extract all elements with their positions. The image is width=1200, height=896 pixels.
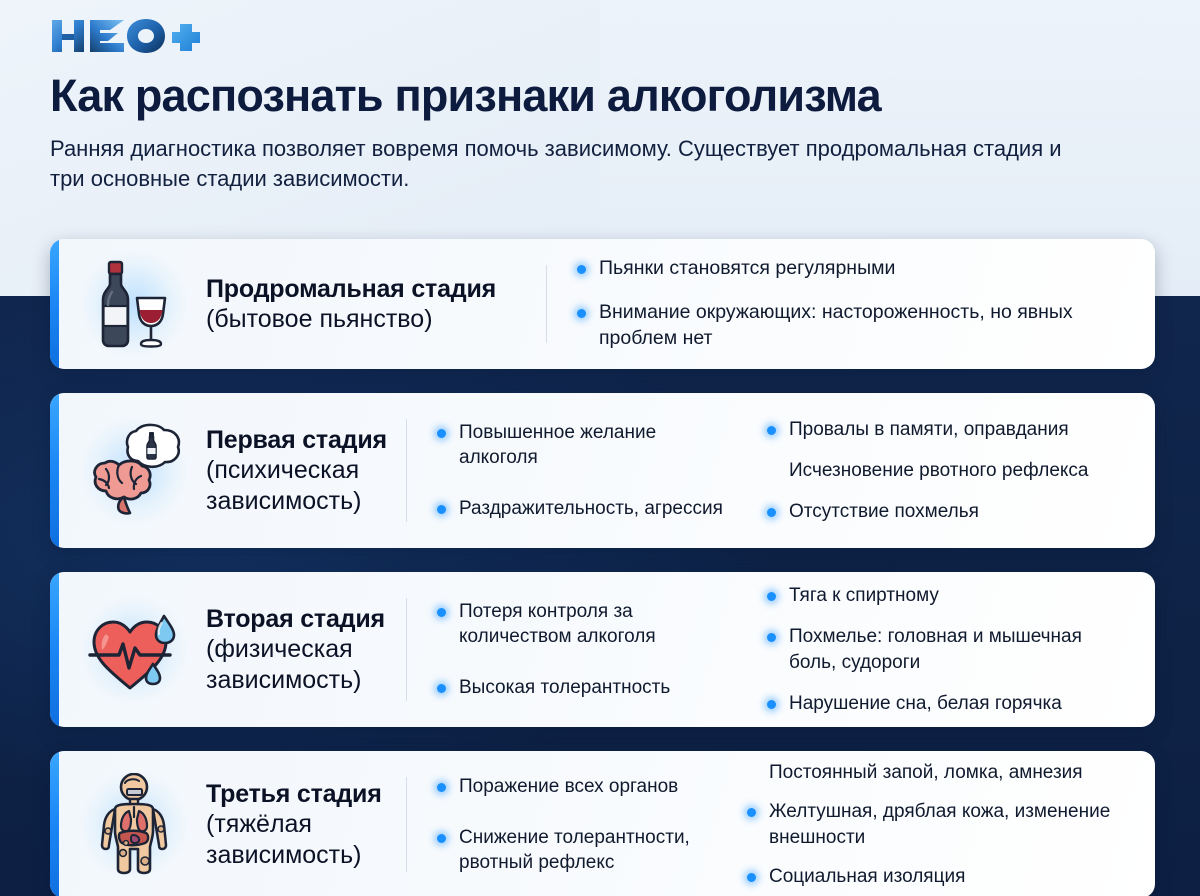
bullet-column: Провалы в памяти, оправдания Исчезновени… bbox=[737, 417, 1133, 524]
card-body: Потеря контроля за количеством алкоголя … bbox=[407, 572, 1155, 727]
card-head: Продромальная стадия (бытовое пьянство) bbox=[50, 239, 546, 369]
page-title: Как распознать признаки алкоголизма bbox=[50, 72, 1160, 121]
card-title-sub: (психическая зависимость) bbox=[206, 455, 406, 516]
list-item: Высокая толерантность bbox=[437, 675, 723, 700]
list-item: Постоянный запой, ломка, амнезия bbox=[747, 760, 1119, 785]
card-body: Поражение всех органов Снижение толерант… bbox=[407, 751, 1155, 896]
card-head: Первая стадия (психическая зависимость) bbox=[50, 393, 406, 548]
brain-with-bottle-thought-icon bbox=[82, 421, 186, 521]
card-title-sub: (бытовое пьянство) bbox=[206, 304, 546, 335]
brand-logo bbox=[50, 14, 1160, 58]
stage-card-second[interactable]: Вторая стадия (физическая зависимость) П… bbox=[50, 572, 1155, 727]
list-item: Тяга к спиртному bbox=[767, 583, 1119, 608]
stages-list: Продромальная стадия (бытовое пьянство) … bbox=[50, 239, 1155, 896]
card-title-sub: (тяжёлая зависимость) bbox=[206, 809, 406, 870]
list-item: Снижение толерантности, рвотный рефлекс bbox=[437, 825, 703, 875]
card-title: Третья стадия (тяжёлая зависимость) bbox=[206, 779, 406, 871]
list-item: Повышенное желание алкоголя bbox=[437, 420, 723, 470]
bullet-column: Постоянный запой, ломка, амнезия Желтушн… bbox=[717, 760, 1133, 888]
card-head: Третья стадия (тяжёлая зависимость) bbox=[50, 751, 406, 896]
bullet-column: Потеря контроля за количеством алкоголя … bbox=[407, 599, 737, 700]
list-item: Провалы в памяти, оправдания bbox=[767, 417, 1119, 442]
human-body-organs-icon bbox=[82, 773, 186, 877]
bullet-column: Повышенное желание алкоголя Раздражитель… bbox=[407, 420, 737, 521]
list-item: Поражение всех органов bbox=[437, 774, 703, 799]
list-item: Социальная изоляция bbox=[747, 864, 1119, 889]
list-item: Пьянки становятся регулярными bbox=[577, 256, 1119, 282]
card-title: Первая стадия (психическая зависимость) bbox=[206, 425, 406, 517]
card-head: Вторая стадия (физическая зависимость) bbox=[50, 572, 406, 727]
card-title-strong: Вторая стадия bbox=[206, 604, 406, 635]
bullet-column: Пьянки становятся регулярными Внимание о… bbox=[547, 256, 1133, 351]
stage-card-first[interactable]: Первая стадия (психическая зависимость) … bbox=[50, 393, 1155, 548]
wine-bottle-and-glass-icon bbox=[82, 258, 186, 350]
list-item: Потеря контроля за количеством алкоголя bbox=[437, 599, 723, 649]
card-title: Продромальная стадия (бытовое пьянство) bbox=[206, 274, 546, 335]
heart-with-pulse-and-droplets-icon bbox=[82, 604, 186, 696]
card-title-strong: Третья стадия bbox=[206, 779, 406, 810]
list-item: Желтушная, дряблая кожа, изменение внешн… bbox=[747, 799, 1119, 849]
stage-card-prodromal[interactable]: Продромальная стадия (бытовое пьянство) … bbox=[50, 239, 1155, 369]
list-item: Исчезновение рвотного рефлекса bbox=[767, 458, 1119, 483]
list-item: Похмелье: головная и мышечная боль, судо… bbox=[767, 624, 1119, 674]
bullet-column: Поражение всех органов Снижение толерант… bbox=[407, 774, 717, 875]
card-title-strong: Первая стадия bbox=[206, 425, 406, 456]
card-body: Пьянки становятся регулярными Внимание о… bbox=[547, 239, 1155, 369]
page-subtitle: Ранняя диагностика позволяет вовремя пом… bbox=[50, 134, 1080, 195]
card-title-sub: (физическая зависимость) bbox=[206, 634, 406, 695]
neo-plus-logo-icon bbox=[50, 16, 202, 56]
list-item: Отсутствие похмелья bbox=[767, 499, 1119, 524]
list-item: Нарушение сна, белая горячка bbox=[767, 691, 1119, 716]
card-title: Вторая стадия (физическая зависимость) bbox=[206, 604, 406, 696]
card-body: Повышенное желание алкоголя Раздражитель… bbox=[407, 393, 1155, 548]
bullet-column: Тяга к спиртному Похмелье: головная и мы… bbox=[737, 583, 1133, 715]
header: Как распознать признаки алкоголизма Ранн… bbox=[50, 14, 1160, 194]
stage-card-third[interactable]: Третья стадия (тяжёлая зависимость) Пора… bbox=[50, 751, 1155, 896]
card-title-strong: Продромальная стадия bbox=[206, 274, 546, 305]
list-item: Внимание окружающих: настороженность, но… bbox=[577, 300, 1119, 351]
list-item: Раздражительность, агрессия bbox=[437, 496, 723, 521]
